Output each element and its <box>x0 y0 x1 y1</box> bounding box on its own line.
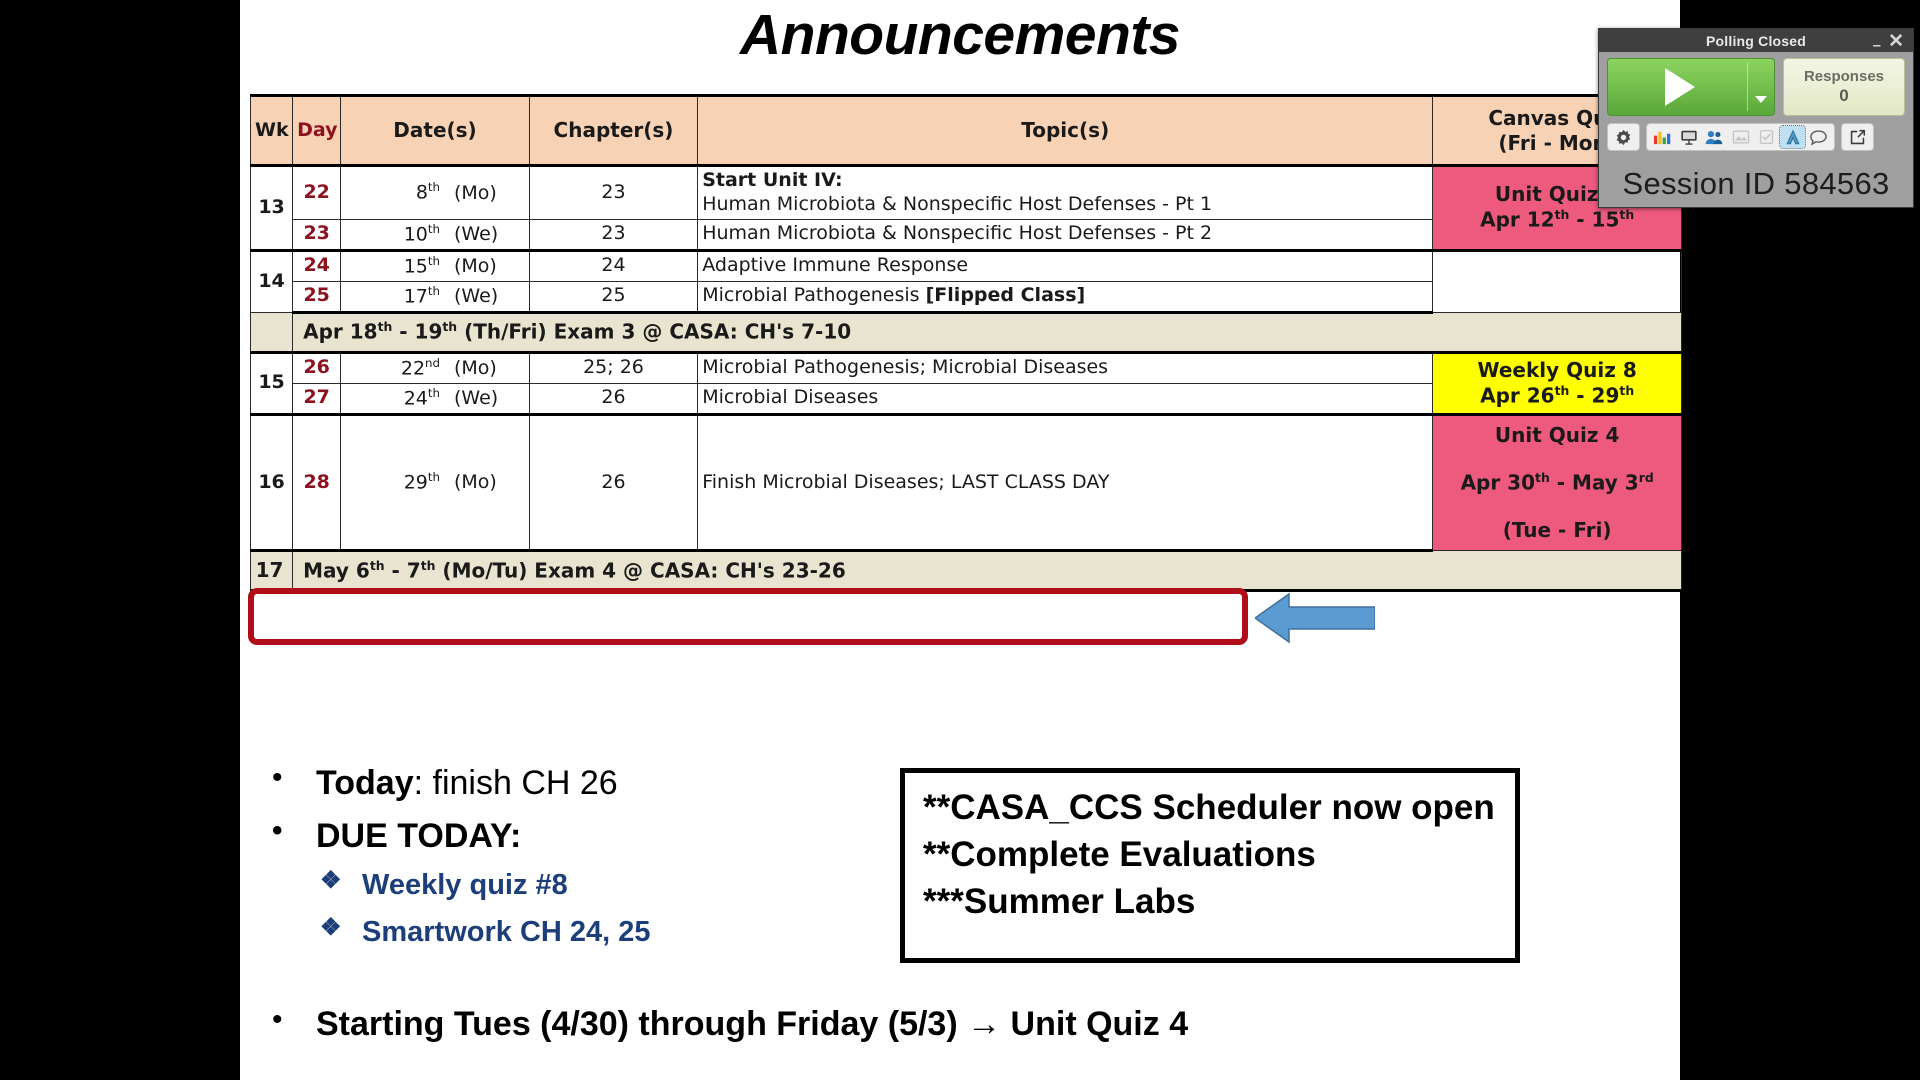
quiz-dates: Apr 26th - 29th <box>1437 383 1677 409</box>
cell-week-empty <box>251 414 293 454</box>
cell-week: 13 <box>251 166 293 251</box>
chevron-down-icon[interactable] <box>1755 96 1767 103</box>
date-ordinal: th <box>428 180 440 194</box>
cell-day: 27 <box>293 383 341 414</box>
polling-body: Responses 0 <box>1599 52 1913 151</box>
col-header-day: Day <box>293 96 341 166</box>
sub-bullet-smartwork: Smartwork CH 24, 25 <box>258 909 958 956</box>
polling-toolbar <box>1607 123 1905 151</box>
bullet-today-label: Today <box>316 764 414 802</box>
people-icon[interactable] <box>1702 126 1727 148</box>
presentation-slide: Announcements Wk Day Date(s) Chapter(s) … <box>240 0 1680 1080</box>
cell-date: 15th(Mo) <box>341 250 530 281</box>
col-header-chapters: Chapter(s) <box>529 96 697 166</box>
cell-chapter: 25 <box>529 281 697 312</box>
table-row: 14 24 15th(Mo) 24 Adaptive Immune Respon… <box>251 250 1682 281</box>
cell-week: 14 <box>251 250 293 312</box>
blue-arrow-icon <box>1255 592 1375 644</box>
checklist-icon[interactable] <box>1754 126 1779 148</box>
cell-chapter: 23 <box>529 219 697 250</box>
responses-label: Responses <box>1804 68 1884 85</box>
minimize-icon[interactable]: – <box>1873 38 1881 53</box>
quiz-days: (Tue - Fri) <box>1437 518 1677 543</box>
presentation-icon[interactable] <box>1676 126 1701 148</box>
table-row: 15 26 22nd(Mo) 25; 26 Microbial Pathogen… <box>251 352 1682 383</box>
callout-line-1: **CASA_CCS Scheduler now open <box>923 785 1499 832</box>
exam-3-text: Apr 18th - 19th (Th/Fri) Exam 3 @ CASA: … <box>293 312 1682 352</box>
cell-week: 16 <box>251 454 293 510</box>
quiz-title: Unit Quiz 4 <box>1437 423 1677 448</box>
bullet-due-today: DUE TODAY: <box>258 810 958 863</box>
cell-topic: Microbial Diseases <box>698 383 1433 414</box>
responses-button[interactable]: Responses 0 <box>1783 58 1905 116</box>
polling-titlebar[interactable]: Polling Closed – ✕ <box>1599 29 1913 52</box>
view-tools-group <box>1646 123 1835 151</box>
col-header-dates: Date(s) <box>341 96 530 166</box>
last-class-day-highlight <box>248 588 1248 645</box>
cell-week-empty <box>251 510 293 550</box>
cell-date-empty <box>341 510 530 550</box>
topic-line-1: Start Unit IV: <box>702 169 1428 193</box>
date-number: 8 <box>416 182 428 204</box>
cell-chapter-empty <box>529 414 697 454</box>
cell-day: 23 <box>293 219 341 250</box>
quiz-title: Weekly Quiz 8 <box>1437 358 1677 383</box>
quiz-dates: Apr 30th - May 3rd <box>1437 470 1677 496</box>
settings-group <box>1607 123 1640 151</box>
cell-topic: Finish Microbial Diseases; LAST CLASS DA… <box>698 454 1433 510</box>
quiz-dates: Apr 12th - 15th <box>1437 207 1677 233</box>
exam-4-text: May 6th - 7th (Mo/Tu) Exam 4 @ CASA: CH'… <box>293 550 1682 590</box>
cell-day-empty <box>293 510 341 550</box>
cell-chapter: 23 <box>529 166 697 220</box>
session-id-label: Session ID 584563 <box>1599 161 1913 207</box>
cell-week: 17 <box>251 550 293 590</box>
play-icon <box>1665 68 1695 106</box>
cell-chapter-empty <box>529 510 697 550</box>
cell-day: 28 <box>293 454 341 510</box>
cell-unit-quiz-4: Unit Quiz 4 Apr 30th - May 3rd (Tue - Fr… <box>1433 414 1682 550</box>
date-weekday: (Mo) <box>440 182 514 206</box>
cell-topic: Microbial Pathogenesis; Microbial Diseas… <box>698 352 1433 383</box>
polling-widget[interactable]: Polling Closed – ✕ Responses 0 <box>1598 28 1914 208</box>
divider <box>1747 63 1748 111</box>
callout-line-2: **Complete Evaluations <box>923 832 1499 879</box>
topic-line-2: Human Microbiota & Nonspecific Host Defe… <box>702 193 1428 217</box>
col-header-wk: Wk <box>251 96 293 166</box>
cell-quiz-empty <box>1433 250 1682 312</box>
cell-day-empty <box>293 414 341 454</box>
bar-chart-icon[interactable] <box>1650 126 1675 148</box>
col-header-topics: Topic(s) <box>698 96 1433 166</box>
announcements-bullet-list: Today: finish CH 26 DUE TODAY: Weekly qu… <box>258 757 958 956</box>
screen: Announcements Wk Day Date(s) Chapter(s) … <box>0 0 1920 1080</box>
table-header-row: Wk Day Date(s) Chapter(s) Topic(s) Canva… <box>251 96 1682 166</box>
exam-row-3: Apr 18th - 19th (Th/Fri) Exam 3 @ CASA: … <box>251 312 1682 352</box>
cell-day: 26 <box>293 352 341 383</box>
cell-topic-empty <box>698 510 1433 550</box>
cell-date: 17th(We) <box>341 281 530 312</box>
polling-primary-controls: Responses 0 <box>1607 58 1905 116</box>
close-icon[interactable]: ✕ <box>1888 32 1904 51</box>
popout-icon[interactable] <box>1845 126 1870 148</box>
exam-row-4: 17 May 6th - 7th (Mo/Tu) Exam 4 @ CASA: … <box>251 550 1682 590</box>
bullet-today-text: : finish CH 26 <box>414 764 618 802</box>
course-schedule-table: Wk Day Date(s) Chapter(s) Topic(s) Canva… <box>250 94 1682 592</box>
cell-chapter: 26 <box>529 383 697 414</box>
cell-chapter: 26 <box>529 454 697 510</box>
comment-icon[interactable] <box>1806 126 1831 148</box>
image-icon[interactable] <box>1728 126 1753 148</box>
cell-date: 24th(We) <box>341 383 530 414</box>
gear-icon[interactable] <box>1611 126 1636 148</box>
cell-week: 15 <box>251 352 293 414</box>
cell-date-empty <box>341 414 530 454</box>
cell-weekly-quiz-8: Weekly Quiz 8 Apr 26th - 29th <box>1433 352 1682 414</box>
cell-day: 24 <box>293 250 341 281</box>
polling-status-title: Polling Closed <box>1706 33 1806 49</box>
cell-topic: Adaptive Immune Response <box>698 250 1433 281</box>
cell-topic: Human Microbiota & Nonspecific Host Defe… <box>698 219 1433 250</box>
sub-bullet-weekly-quiz: Weekly quiz #8 <box>258 862 958 909</box>
cell-topic-empty <box>698 414 1433 454</box>
cell-date: 22nd(Mo) <box>341 352 530 383</box>
cell-chapter: 25; 26 <box>529 352 697 383</box>
cell-week-empty <box>251 312 293 352</box>
callout-line-3: ***Summer Labs <box>923 879 1499 926</box>
callout-box: **CASA_CCS Scheduler now open **Complete… <box>900 768 1520 963</box>
table-row-spacer: Unit Quiz 4 Apr 30th - May 3rd (Tue - Fr… <box>251 414 1682 454</box>
cell-chapter: 24 <box>529 250 697 281</box>
cell-date: 10th(We) <box>341 219 530 250</box>
cell-day: 25 <box>293 281 341 312</box>
cell-topic: Microbial Pathogenesis [Flipped Class] <box>698 281 1433 312</box>
cell-date: 29th(Mo) <box>341 454 530 510</box>
bullet-today: Today: finish CH 26 <box>258 757 958 810</box>
table-row: 13 22 8th(Mo) 23 Start Unit IV: Human Mi… <box>251 166 1682 220</box>
responses-count: 0 <box>1839 86 1848 106</box>
bullet-unit-quiz-window: Starting Tues (4/30) through Friday (5/3… <box>258 1005 1188 1044</box>
cell-topic: Start Unit IV: Human Microbiota & Nonspe… <box>698 166 1433 220</box>
page-title: Announcements <box>240 6 1680 66</box>
popout-group <box>1841 123 1874 151</box>
start-polling-button[interactable] <box>1607 58 1775 116</box>
pin-icon[interactable] <box>1780 126 1805 148</box>
cell-date: 8th(Mo) <box>341 166 530 220</box>
cell-day: 22 <box>293 166 341 220</box>
